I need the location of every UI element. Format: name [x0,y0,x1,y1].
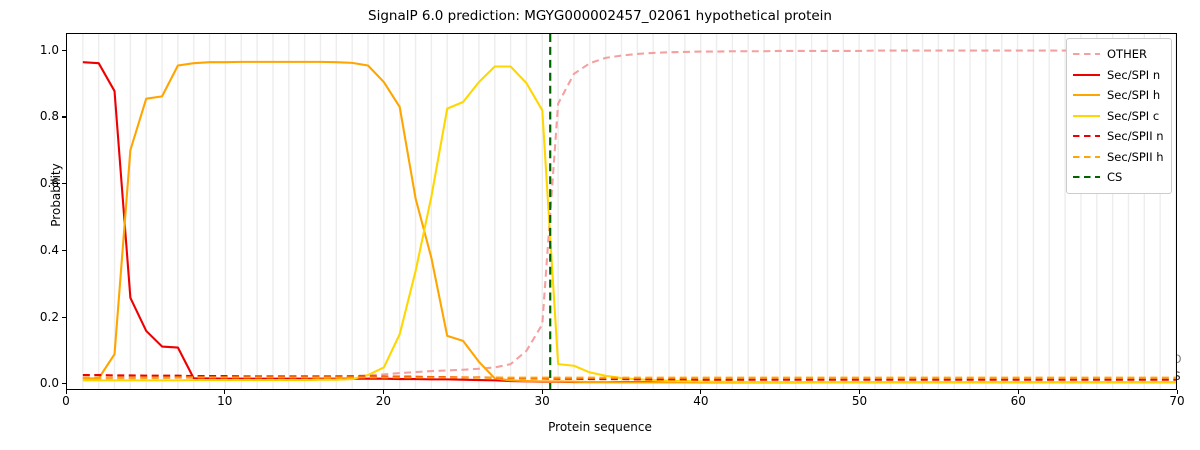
x-tick-label: 60 [998,394,1038,408]
x-tick-label: 30 [522,394,562,408]
page-title: SignalP 6.0 prediction: MGYG000002457_02… [0,8,1200,24]
y-tick-label: 0.0 [13,376,59,390]
x-tick-label: 10 [205,394,245,408]
series-curves [67,34,1176,389]
legend-item[interactable]: OTHER [1073,44,1164,65]
legend-item-label: Sec/SPII h [1107,150,1164,164]
plot-area [66,33,1177,390]
legend-item-label: OTHER [1107,47,1147,61]
x-tick-mark [1177,390,1178,394]
legend-item-label: Sec/SPI h [1107,88,1160,102]
legend-item-label: Sec/SPI n [1107,68,1160,82]
legend-item[interactable]: Sec/SPI h [1073,85,1164,106]
legend-item-label: CS [1107,170,1122,184]
legend: OTHERSec/SPI nSec/SPI hSec/SPI cSec/SPII… [1066,38,1172,194]
y-tick-label: 0.2 [13,310,59,324]
legend-line-swatch [1073,89,1100,101]
legend-item[interactable]: Sec/SPI n [1073,65,1164,86]
x-tick-label: 0 [46,394,86,408]
x-tick-label: 40 [681,394,721,408]
y-tick-label: 0.4 [13,243,59,257]
legend-line-swatch [1073,48,1100,60]
x-tick-mark [224,390,225,394]
x-axis-label: Protein sequence [0,420,1200,434]
legend-item[interactable]: Sec/SPI c [1073,106,1164,127]
x-tick-label: 70 [1157,394,1197,408]
legend-item-label: Sec/SPI c [1107,109,1159,123]
x-tick-mark [700,390,701,394]
legend-line-swatch [1073,110,1100,122]
signalp-prediction-figure: SignalP 6.0 prediction: MGYG000002457_02… [0,0,1200,450]
x-tick-mark [859,390,860,394]
legend-line-swatch [1073,151,1100,163]
legend-line-swatch [1073,69,1100,81]
x-tick-mark [66,390,67,394]
x-tick-label: 50 [840,394,880,408]
y-tick-label: 0.8 [13,109,59,123]
x-tick-mark [542,390,543,394]
x-tick-mark [383,390,384,394]
y-tick-label: 1.0 [13,43,59,57]
legend-line-swatch [1073,130,1100,142]
legend-item-label: Sec/SPII n [1107,129,1164,143]
legend-item[interactable]: Sec/SPII h [1073,147,1164,168]
y-axis-label: Probability [49,135,63,255]
x-tick-mark [1018,390,1019,394]
legend-line-swatch [1073,171,1100,183]
legend-item[interactable]: Sec/SPII n [1073,126,1164,147]
x-tick-label: 20 [363,394,403,408]
legend-item[interactable]: CS [1073,167,1164,188]
y-tick-label: 0.6 [13,176,59,190]
